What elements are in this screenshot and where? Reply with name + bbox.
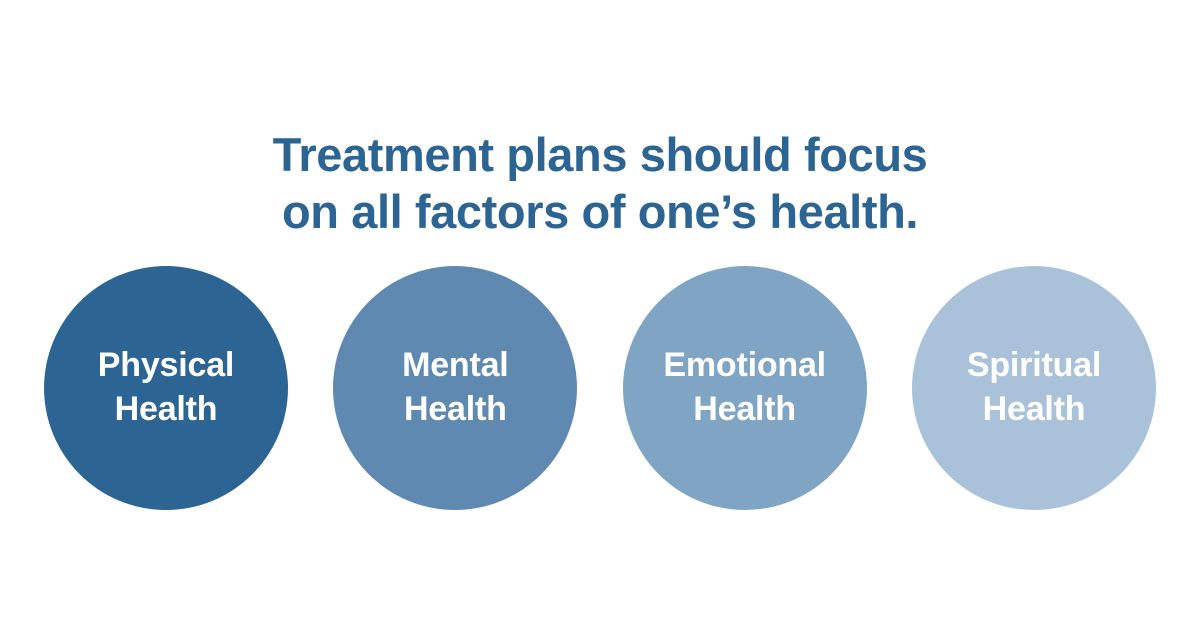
factor-label-spiritual-health: Spiritual Health	[959, 344, 1109, 431]
factor-label-emotional-health: Emotional Health	[655, 344, 834, 431]
page-title-line-2: on all factors of one’s health.	[0, 184, 1200, 241]
factor-circle-physical-health: Physical Health	[44, 266, 288, 510]
factor-label-line-2: Health	[663, 388, 826, 432]
page-title-line-1: Treatment plans should focus	[0, 127, 1200, 184]
page-title: Treatment plans should focus on all fact…	[0, 127, 1200, 241]
factor-circle-spiritual-health: Spiritual Health	[912, 266, 1156, 510]
factor-label-physical-health: Physical Health	[90, 344, 242, 431]
health-factors-row: Physical Health Mental Health Emotional …	[44, 266, 1156, 510]
factor-circle-mental-health: Mental Health	[333, 266, 577, 510]
factor-label-line-2: Health	[402, 388, 508, 432]
factor-label-mental-health: Mental Health	[394, 344, 516, 431]
factor-label-line-1: Physical	[98, 344, 234, 388]
infographic-canvas: Treatment plans should focus on all fact…	[0, 0, 1200, 630]
factor-label-line-1: Spiritual	[967, 344, 1101, 388]
factor-label-line-1: Emotional	[663, 344, 826, 388]
factor-label-line-1: Mental	[402, 344, 508, 388]
factor-circle-emotional-health: Emotional Health	[623, 266, 867, 510]
factor-label-line-2: Health	[98, 388, 234, 432]
factor-label-line-2: Health	[967, 388, 1101, 432]
